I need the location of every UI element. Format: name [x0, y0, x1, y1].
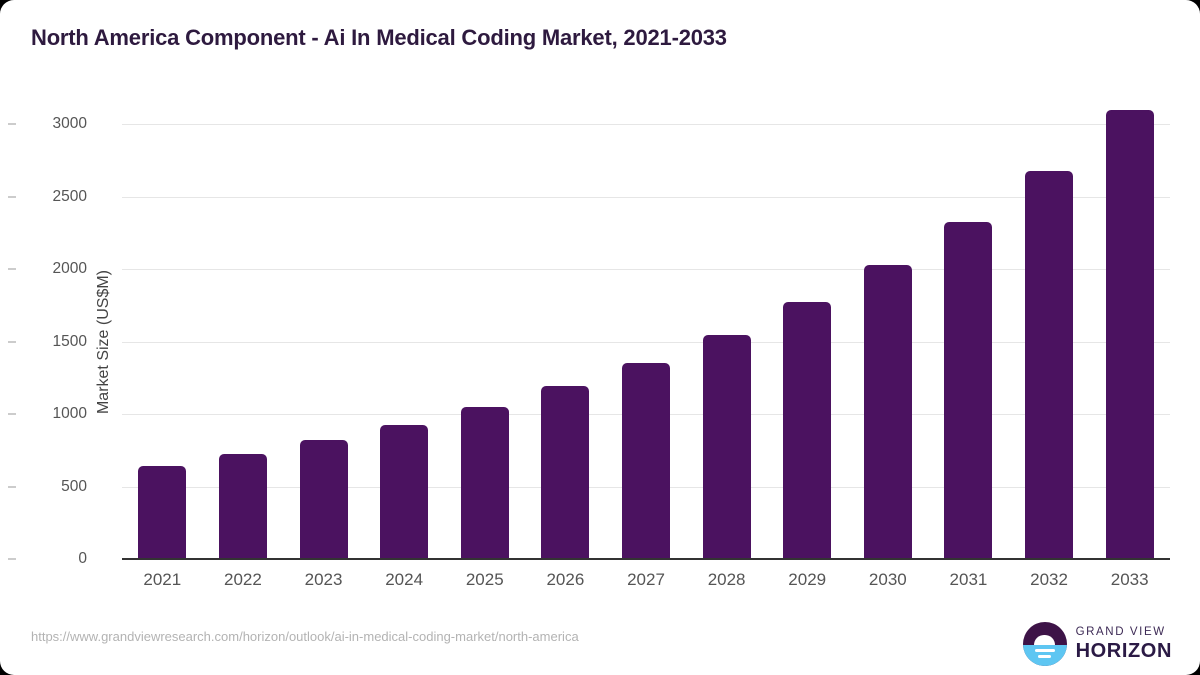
x-axis-tick-label-2022: 2022 — [224, 570, 262, 590]
y-axis-tick-mark — [8, 486, 16, 487]
gridline — [122, 269, 1170, 270]
gridline — [122, 124, 1170, 125]
x-axis-tick-label-2030: 2030 — [869, 570, 907, 590]
logo-text-horizon: HORIZON — [1076, 641, 1172, 661]
y-axis-tick-label: 3000 — [17, 115, 87, 133]
gridline — [122, 197, 1170, 198]
x-axis-tick-label-2032: 2032 — [1030, 570, 1068, 590]
x-axis-tick-label-2021: 2021 — [143, 570, 181, 590]
x-axis-tick-label-2029: 2029 — [788, 570, 826, 590]
y-axis-tick-label: 2500 — [17, 188, 87, 206]
y-axis-tick-label: 2000 — [17, 260, 87, 278]
bar-2022[interactable] — [219, 454, 267, 559]
bar-2026[interactable] — [541, 386, 589, 559]
x-axis-tick-label-2024: 2024 — [385, 570, 423, 590]
logo-ray-top — [1035, 649, 1055, 652]
bar-2025[interactable] — [461, 407, 509, 559]
y-axis-tick-mark — [8, 196, 16, 197]
bar-2028[interactable] — [703, 335, 751, 559]
x-axis-tick-label-2023: 2023 — [305, 570, 343, 590]
x-axis-line — [122, 558, 1170, 560]
y-axis-tick-label: 1000 — [17, 405, 87, 423]
chart-card: North America Component - Ai In Medical … — [0, 0, 1200, 675]
x-axis-tick-label-2027: 2027 — [627, 570, 665, 590]
logo-ray-bottom — [1038, 655, 1051, 658]
bar-2030[interactable] — [864, 265, 912, 559]
gridline — [122, 342, 1170, 343]
y-axis-tick-label: 0 — [17, 550, 87, 568]
y-axis-tick-label: 500 — [17, 478, 87, 496]
bar-2032[interactable] — [1025, 171, 1073, 559]
x-axis-tick-label-2026: 2026 — [546, 570, 584, 590]
x-axis-tick-label-2033: 2033 — [1111, 570, 1149, 590]
brand-logo: GRAND VIEW HORIZON — [1023, 622, 1172, 666]
y-axis-tick-mark — [8, 341, 16, 342]
source-url[interactable]: https://www.grandviewresearch.com/horizo… — [31, 629, 579, 644]
horizon-sunrise-circle-icon — [1023, 622, 1067, 666]
bar-2021[interactable] — [138, 466, 186, 559]
y-axis-tick-mark — [8, 124, 16, 125]
x-axis-tick-label-2028: 2028 — [708, 570, 746, 590]
logo-text-grand-view: GRAND VIEW — [1076, 627, 1172, 639]
y-axis-tick-label: 1500 — [17, 333, 87, 351]
bar-2023[interactable] — [300, 440, 348, 559]
y-axis-tick-mark — [8, 559, 16, 560]
x-axis-tick-label-2025: 2025 — [466, 570, 504, 590]
bar-2031[interactable] — [944, 222, 992, 559]
logo-wordmark: GRAND VIEW HORIZON — [1076, 627, 1172, 661]
y-axis-tick-mark — [8, 269, 16, 270]
logo-sun — [1034, 635, 1055, 646]
bar-2027[interactable] — [622, 363, 670, 559]
plot-area: Market Size (US$M) 050010001500200025003… — [122, 124, 1170, 559]
x-axis-tick-label-2031: 2031 — [950, 570, 988, 590]
bar-2033[interactable] — [1106, 110, 1154, 560]
bar-2029[interactable] — [783, 302, 831, 559]
bar-2024[interactable] — [380, 425, 428, 559]
y-axis-tick-mark — [8, 414, 16, 415]
page-title: North America Component - Ai In Medical … — [31, 25, 727, 51]
y-axis-label: Market Size (US$M) — [95, 269, 113, 413]
